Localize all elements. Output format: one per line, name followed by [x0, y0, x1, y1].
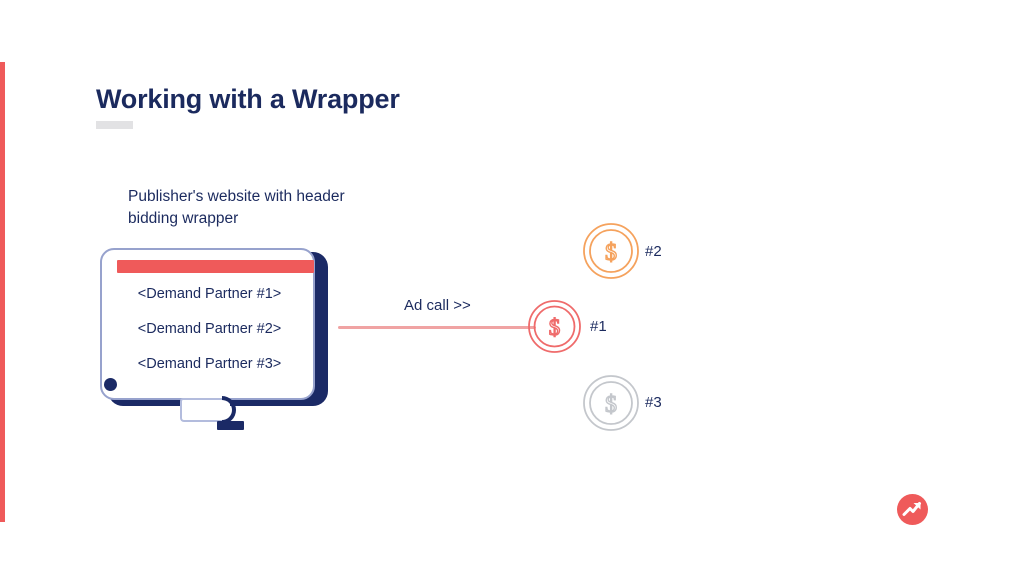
page-title: Working with a Wrapper: [96, 84, 400, 115]
monitor-stand-foot: [217, 421, 244, 430]
svg-text:$: $: [605, 240, 617, 266]
wrapper-header-bar: [117, 260, 314, 273]
left-accent-bar: [0, 62, 5, 522]
demand-partner-row: <Demand Partner #3>: [102, 356, 317, 372]
title-underline-rule: [96, 121, 133, 129]
bid-coin-icon-3: $: [582, 374, 640, 432]
monitor-stand-curve: [222, 396, 236, 424]
svg-text:$: $: [549, 315, 561, 340]
monitor-screen: <Demand Partner #1> <Demand Partner #2> …: [100, 248, 315, 400]
arrow-up-trend-logo: [897, 494, 928, 525]
ad-call-label: Ad call >>: [404, 297, 471, 314]
bid-rank-label-2: #2: [645, 243, 662, 260]
bid-rank-label-3: #3: [645, 394, 662, 411]
monitor-power-dot-icon: [104, 378, 117, 391]
publisher-caption: Publisher's website with header bidding …: [128, 186, 358, 230]
bid-rank-label-1: #1: [590, 318, 607, 335]
slide-canvas: Working with a Wrapper Publisher's websi…: [0, 0, 1024, 577]
bid-coin-icon-1: $: [527, 299, 582, 354]
demand-partner-row: <Demand Partner #1>: [102, 286, 317, 302]
ad-call-connector-line: [338, 326, 536, 329]
monitor-stand: [180, 398, 252, 428]
bid-coin-icon-2: $: [582, 222, 640, 280]
publisher-monitor: <Demand Partner #1> <Demand Partner #2> …: [100, 248, 328, 406]
svg-text:$: $: [605, 392, 617, 418]
demand-partner-row: <Demand Partner #2>: [102, 321, 317, 337]
